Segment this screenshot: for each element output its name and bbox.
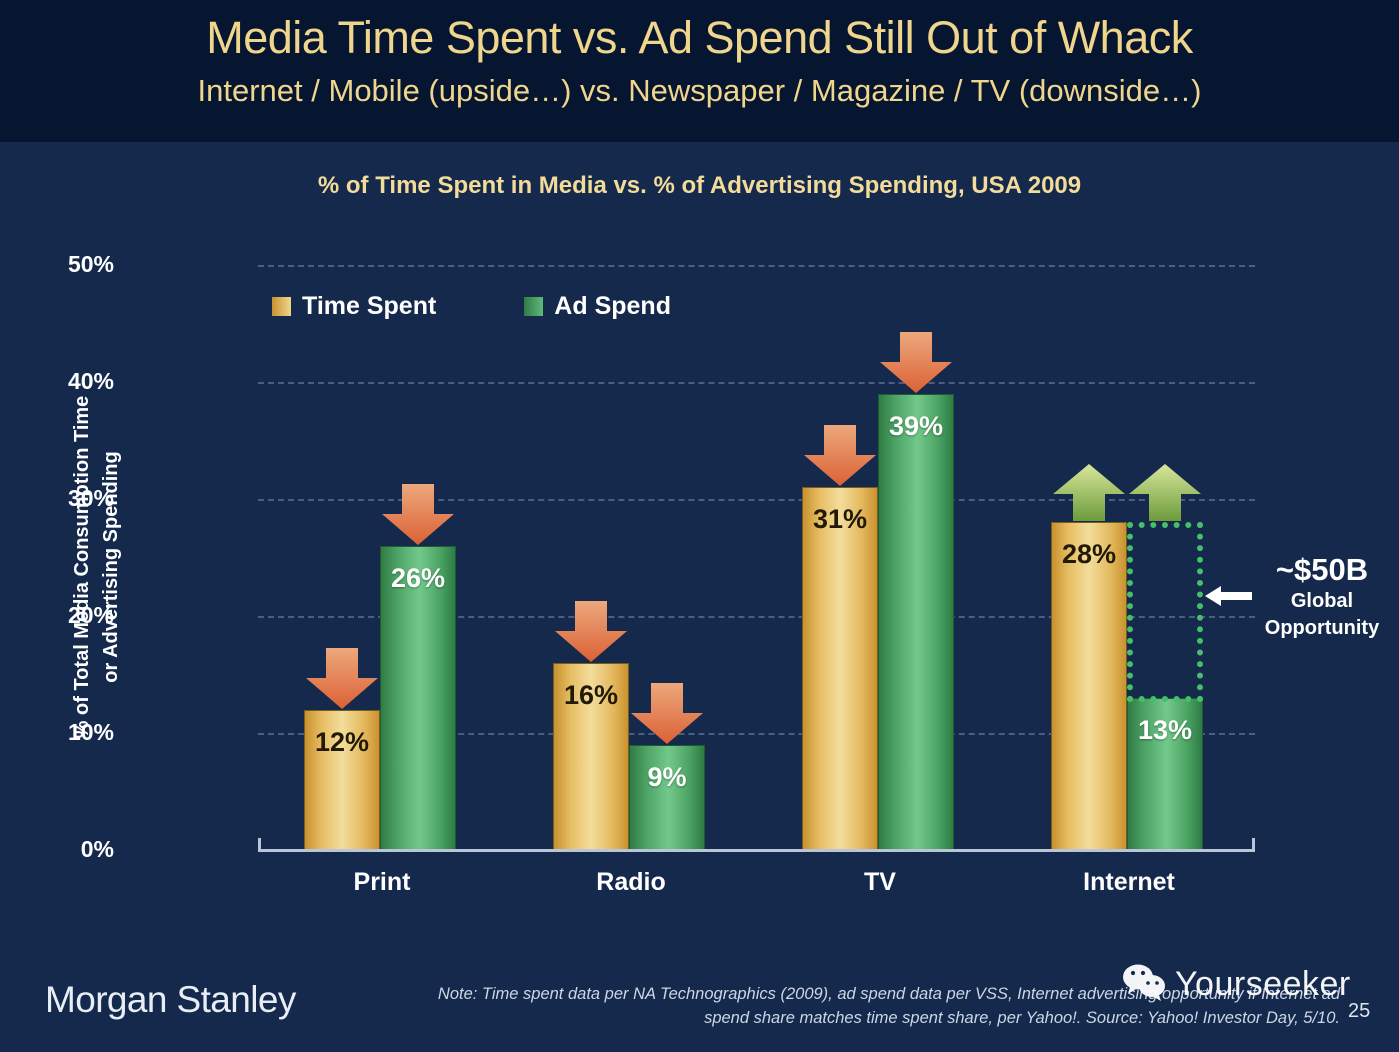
ytick-label-40: 40% [0,368,114,395]
x-axis-baseline [258,849,1255,852]
page-number: 25 [1348,1000,1370,1023]
down-arrow-radio-ad-spend [629,683,705,745]
bar-tv-time-spent[interactable]: 31% [802,487,878,850]
legend-swatch-ad-spend-icon [524,297,543,316]
bar-label-tv-time-spent: 31% [803,504,877,535]
down-arrow-tv-ad-spend [878,332,954,394]
bar-label-radio-time-spent: 16% [554,680,628,711]
down-arrow-print-ad-spend [380,484,456,546]
callout-line-2: Global [1245,588,1399,615]
watermark-text: Yourseeker [1175,965,1351,1004]
plot-area: 12% 26% 16% 9% 31% 39% [258,265,1255,850]
category-label-internet: Internet [1009,868,1249,897]
category-label-print: Print [262,868,502,897]
down-arrow-tv-time-spent [802,425,878,487]
bar-tv-ad-spend[interactable]: 39% [878,394,954,850]
wechat-icon [1122,963,1168,1006]
up-arrow-internet-time-spent [1051,464,1127,522]
slide-title: Media Time Spent vs. Ad Spend Still Out … [0,12,1399,64]
legend-label-ad-spend: Ad Spend [554,292,671,321]
bar-internet-time-spent[interactable]: 28% [1051,522,1127,850]
morgan-stanley-logo: Morgan Stanley [45,979,296,1021]
watermark: Yourseeker [1122,963,1351,1006]
bar-print-ad-spend[interactable]: 26% [380,546,456,850]
opportunity-callout: ~$50B Global Opportunity [1245,552,1399,642]
callout-line-3: Opportunity [1245,615,1399,642]
bar-label-internet-time-spent: 28% [1052,539,1126,570]
ytick-label-10: 10% [0,719,114,746]
gridline-50 [258,265,1255,267]
callout-amount: ~$50B [1245,552,1399,588]
bar-label-print-ad-spend: 26% [381,563,455,594]
gridline-40 [258,382,1255,384]
legend-item-time-spent[interactable]: Time Spent [272,292,436,321]
chart-title: % of Time Spent in Media vs. % of Advert… [0,172,1399,200]
down-arrow-print-time-spent [304,648,380,710]
y-axis-title-line-1: % of Total Media Consumption Time [71,396,93,739]
bar-label-radio-ad-spend: 9% [630,762,704,793]
bar-internet-ad-spend[interactable]: 13% [1127,698,1203,850]
up-arrow-internet-ad-spend [1127,464,1203,522]
ytick-label-0: 0% [0,836,114,863]
legend-item-ad-spend[interactable]: Ad Spend [524,292,671,321]
bar-radio-time-spent[interactable]: 16% [553,663,629,850]
slide-subtitle: Internet / Mobile (upside…) vs. Newspape… [0,73,1399,109]
bar-label-tv-ad-spend: 39% [879,411,953,442]
category-label-tv: TV [760,868,1000,897]
bar-radio-ad-spend[interactable]: 9% [629,745,705,850]
axis-tick-left [258,838,261,850]
category-label-radio: Radio [511,868,751,897]
bar-label-print-time-spent: 12% [305,727,379,758]
bar-print-time-spent[interactable]: 12% [304,710,380,850]
down-arrow-radio-time-spent [553,601,629,663]
chart-legend: Time Spent Ad Spend [272,292,671,321]
legend-swatch-time-spent-icon [272,297,291,316]
bar-label-internet-ad-spend: 13% [1128,715,1202,746]
ytick-label-20: 20% [0,602,114,629]
ytick-label-30: 30% [0,485,114,512]
footnote-line-2: spend share matches time spent share, pe… [300,1006,1340,1030]
ytick-label-50: 50% [0,251,114,278]
legend-label-time-spent: Time Spent [302,292,436,321]
opportunity-dotted-box [1127,522,1203,702]
axis-tick-right [1252,838,1255,850]
